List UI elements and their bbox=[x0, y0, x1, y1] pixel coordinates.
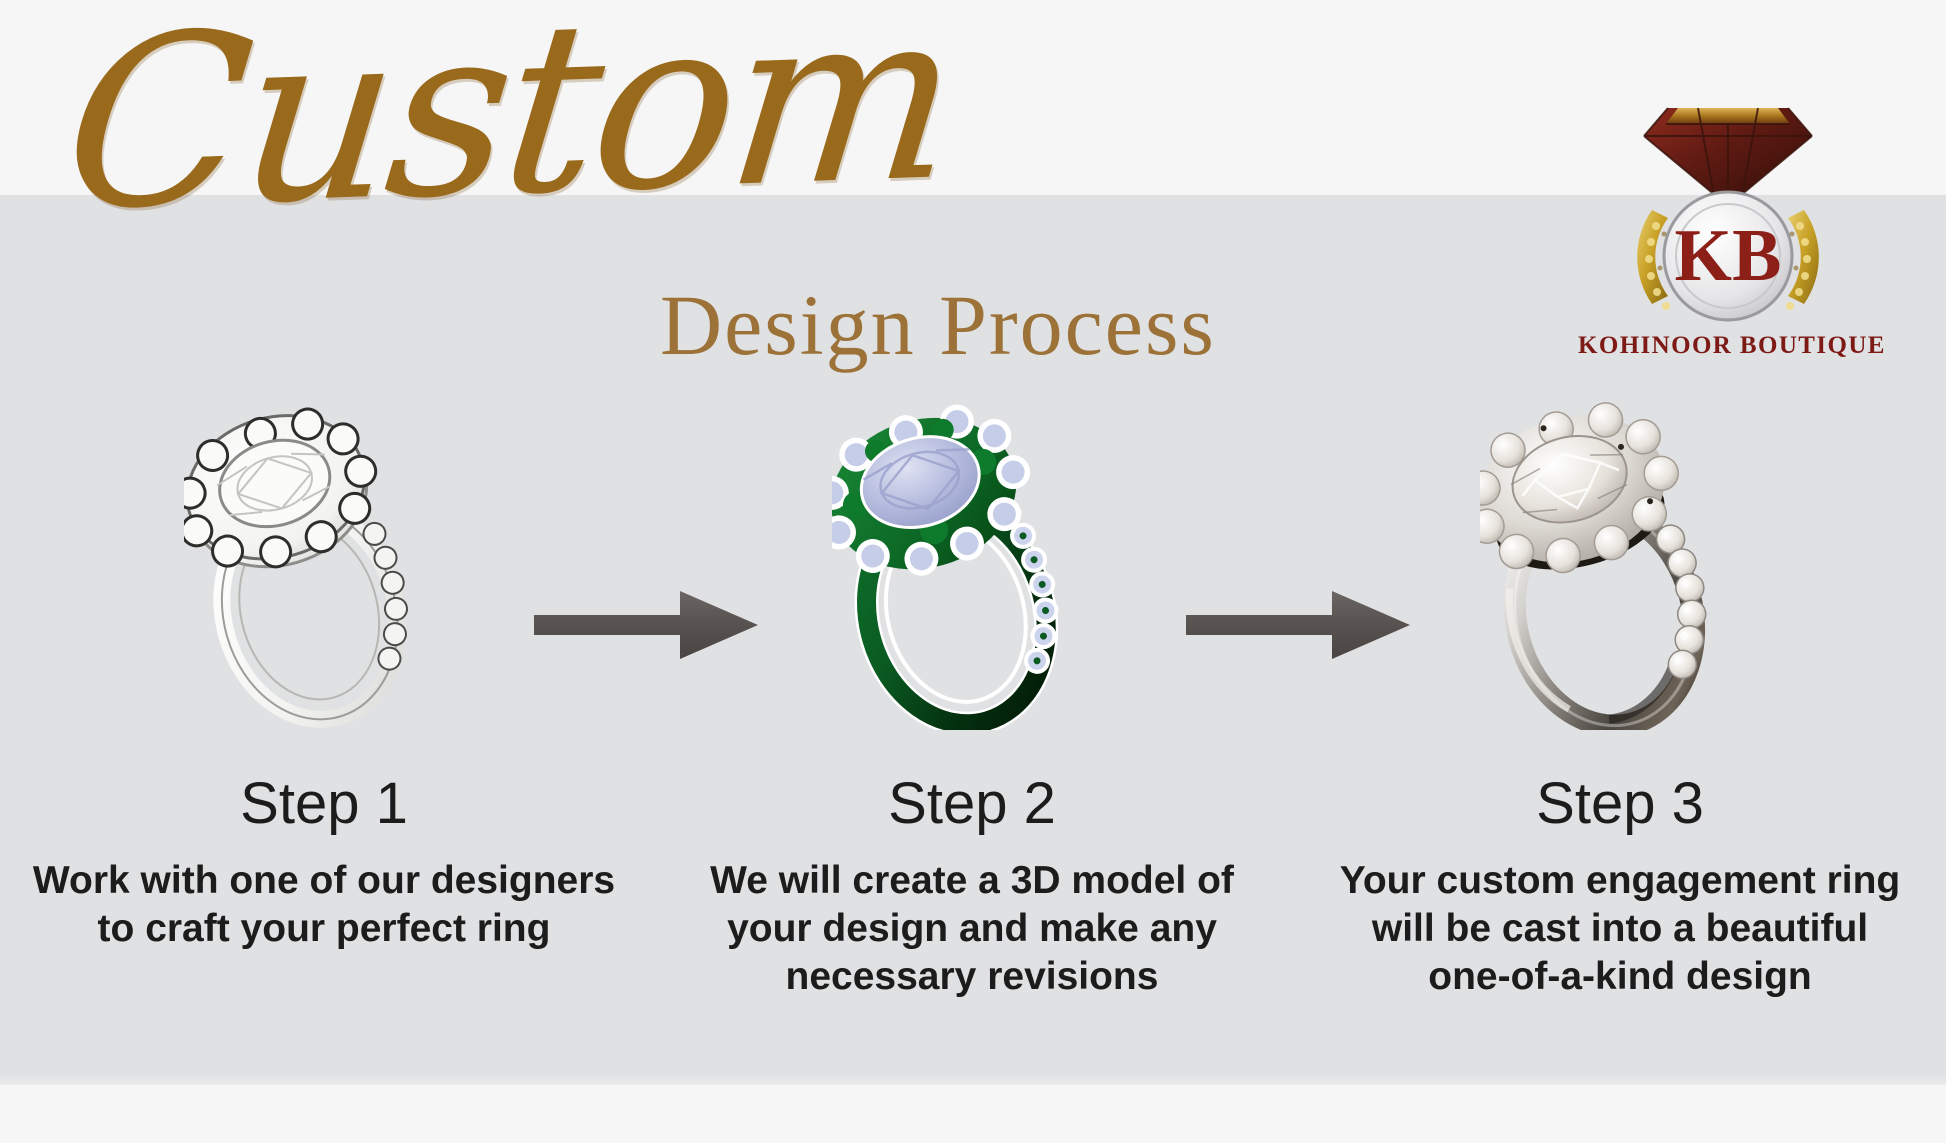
brand-name-caption: KOHINOOR BOUTIQUE bbox=[1578, 332, 1878, 360]
headline-script-custom: Custom bbox=[56, 0, 963, 244]
step-1-desc-line-2: to craft your perfect ring bbox=[24, 905, 624, 953]
step-1: Step 1 Work with one of our designers to… bbox=[0, 400, 648, 1080]
background-bottom-strip bbox=[0, 1085, 1946, 1143]
step-3-desc-line-1: Your custom engagement ring bbox=[1320, 857, 1920, 905]
step-2: Step 2 We will create a 3D model of your… bbox=[648, 400, 1296, 1080]
diamond-ring-crest-icon: KB bbox=[1606, 78, 1850, 330]
step-2-desc-line-3: necessary revisions bbox=[672, 953, 1272, 1001]
ring-finished-photo-icon bbox=[1470, 400, 1770, 730]
brand-logo: KB KOHINOOR BOUTIQUE bbox=[1578, 78, 1878, 378]
step-3-desc-line-2: will be cast into a beautiful bbox=[1320, 905, 1920, 953]
headline-design-process: Design Process bbox=[660, 282, 1216, 368]
ring-sketch-outline-icon bbox=[174, 400, 474, 730]
custom-design-process-infographic: Custom Design Process bbox=[0, 0, 1946, 1143]
brand-monogram-text: KB bbox=[1675, 215, 1782, 297]
step-2-desc-line-1: We will create a 3D model of bbox=[672, 857, 1272, 905]
step-1-label: Step 1 bbox=[240, 770, 408, 837]
arrow-right-icon-step1-to-step2 bbox=[530, 585, 762, 665]
step-2-label: Step 2 bbox=[888, 770, 1056, 837]
step-3-label: Step 3 bbox=[1536, 770, 1704, 837]
step-1-desc-line-1: Work with one of our designers bbox=[24, 857, 624, 905]
process-steps-row: Step 1 Work with one of our designers to… bbox=[0, 400, 1946, 1080]
step-2-desc-line-2: your design and make any bbox=[672, 905, 1272, 953]
step-3: Step 3 Your custom engagement ring will … bbox=[1296, 400, 1944, 1080]
step-2-description: We will create a 3D model of your design… bbox=[672, 857, 1272, 1001]
step-1-description: Work with one of our designers to craft … bbox=[24, 857, 624, 953]
step-3-description: Your custom engagement ring will be cast… bbox=[1320, 857, 1920, 1001]
step-3-desc-line-3: one-of-a-kind design bbox=[1320, 953, 1920, 1001]
arrow-right-icon-step2-to-step3 bbox=[1182, 585, 1414, 665]
ring-3d-cad-model-icon bbox=[822, 400, 1122, 730]
